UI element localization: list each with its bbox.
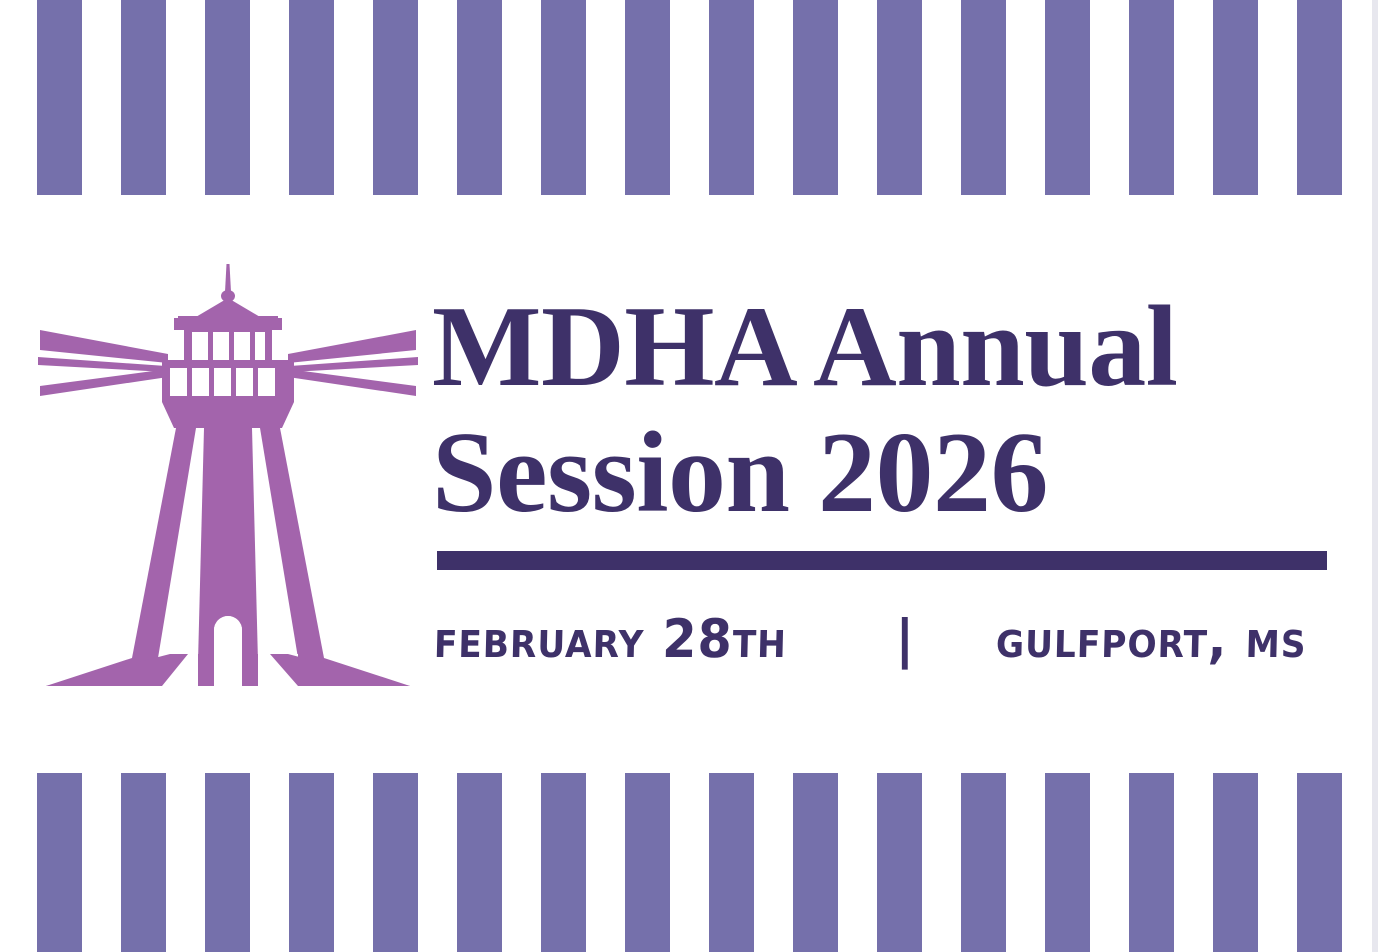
decorative-stripe — [793, 773, 838, 952]
event-date: February 28th — [433, 607, 788, 673]
decorative-stripe — [541, 0, 586, 195]
decorative-stripe — [961, 0, 1006, 195]
event-title-line-2: Session 2026 — [432, 414, 1332, 532]
decorative-stripe — [121, 0, 166, 195]
decorative-stripe — [1297, 773, 1342, 952]
striped-banner-bottom — [0, 773, 1372, 952]
decorative-stripe — [877, 773, 922, 952]
decorative-stripe — [793, 0, 838, 195]
striped-banner-top — [0, 0, 1372, 195]
decorative-stripe — [625, 773, 670, 952]
decorative-stripe — [373, 0, 418, 195]
decorative-stripe — [1213, 0, 1258, 195]
decorative-stripe — [457, 773, 502, 952]
decorative-stripe — [37, 773, 82, 952]
decorative-stripe — [205, 773, 250, 952]
poster-canvas: MDHA Annual Session 2026 February 28th |… — [0, 0, 1378, 952]
decorative-stripe — [1213, 773, 1258, 952]
decorative-stripe — [373, 773, 418, 952]
decorative-stripe — [457, 0, 502, 195]
tagline-separator: | — [887, 607, 922, 673]
decorative-stripe — [1129, 0, 1174, 195]
decorative-stripe — [37, 0, 82, 195]
logo-text-block: MDHA Annual Session 2026 — [432, 288, 1332, 532]
decorative-stripe — [877, 0, 922, 195]
decorative-stripe — [289, 773, 334, 952]
event-location: Gulfport, MS — [995, 607, 1307, 673]
decorative-stripe — [121, 773, 166, 952]
decorative-stripe — [961, 773, 1006, 952]
lighthouse-icon — [36, 262, 420, 702]
decorative-stripe — [1129, 773, 1174, 952]
event-title-line-1: MDHA Annual — [432, 288, 1332, 406]
decorative-stripe — [625, 0, 670, 195]
decorative-stripe — [709, 0, 754, 195]
decorative-stripe — [1297, 0, 1342, 195]
decorative-stripe — [1045, 0, 1090, 195]
decorative-stripe — [205, 0, 250, 195]
page-right-edge — [1372, 0, 1378, 952]
decorative-stripe — [289, 0, 334, 195]
decorative-stripe — [541, 773, 586, 952]
tagline-row: February 28th | Gulfport, MS — [434, 607, 1330, 673]
decorative-stripe — [709, 773, 754, 952]
decorative-stripe — [1045, 773, 1090, 952]
title-divider-rule — [437, 551, 1327, 570]
